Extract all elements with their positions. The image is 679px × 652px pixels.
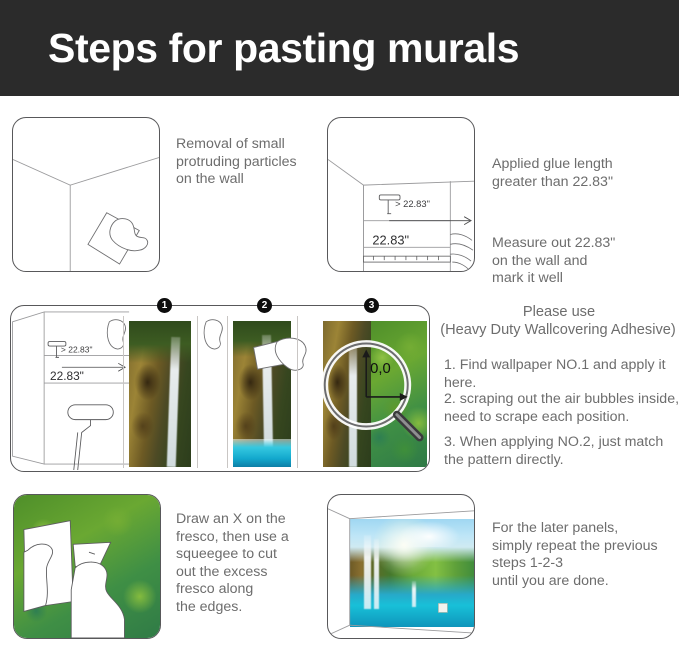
origin-label: 0,0	[370, 361, 391, 377]
panel-apply-glue: > 22.83" 22.83"	[327, 117, 475, 272]
notes-heading-line2: (Heavy Duty Wallcovering Adhesive)	[437, 321, 679, 339]
caption-trim-edges: Draw an X on the fresco, then use a sque…	[176, 511, 326, 616]
panel-apply-panels: > 22.83" 22.83"	[10, 305, 430, 472]
panel-seam	[123, 316, 124, 468]
header-bar: Steps for pasting murals	[0, 0, 679, 96]
squeegee-icon	[254, 338, 307, 370]
glue-measure-illustration: > 22.83" 22.83"	[328, 118, 474, 271]
step-badge-3: 3	[364, 298, 379, 313]
hand-icon	[450, 234, 473, 271]
caption-repeat-panels: For the later panels, simply repeat the …	[492, 520, 677, 590]
length-arrow-icon	[389, 217, 471, 225]
room-perspective-illustration	[328, 495, 474, 638]
squeegee-trim-illustration	[14, 495, 160, 638]
caption-measure-mark: Measure out 22.83" on the wall and mark …	[492, 235, 662, 288]
watermark-badge	[438, 603, 447, 612]
notes-heading-line1: Please use	[440, 303, 678, 321]
instruction-graphic: Steps for pasting murals Removal of smal…	[0, 0, 679, 652]
wall-corner-illustration	[13, 118, 159, 271]
hand-icon	[71, 562, 124, 638]
step-badge-2: 2	[257, 298, 272, 313]
note-item-2: 2. scraping out the air bubbles inside, …	[444, 391, 679, 426]
panel-seam	[197, 316, 198, 468]
step-badge-1: 1	[157, 298, 172, 313]
page-title: Steps for pasting murals	[0, 25, 519, 72]
hand-icon	[204, 320, 222, 349]
hands-and-magnifier-overlay: 0,0	[11, 306, 429, 471]
note-item-1: 1. Find wallpaper NO.1 and apply it here…	[444, 357, 679, 392]
caption-applied-glue: Applied glue length greater than 22.83"	[492, 156, 662, 191]
brush-length-label: > 22.83"	[395, 199, 430, 209]
panel-seam	[227, 316, 228, 468]
caption-remove-particles: Removal of small protruding particles on…	[176, 136, 321, 189]
panel-repeat-panels	[327, 494, 475, 639]
ruler-length-label: 22.83"	[372, 232, 409, 247]
panel-trim-edges	[13, 494, 161, 639]
ruler-icon	[364, 256, 451, 262]
panel-seam	[297, 316, 298, 468]
note-item-3: 3. When applying NO.2, just match the pa…	[444, 434, 679, 469]
magnifier-icon: 0,0	[325, 344, 420, 438]
panel-remove-particles	[12, 117, 160, 272]
